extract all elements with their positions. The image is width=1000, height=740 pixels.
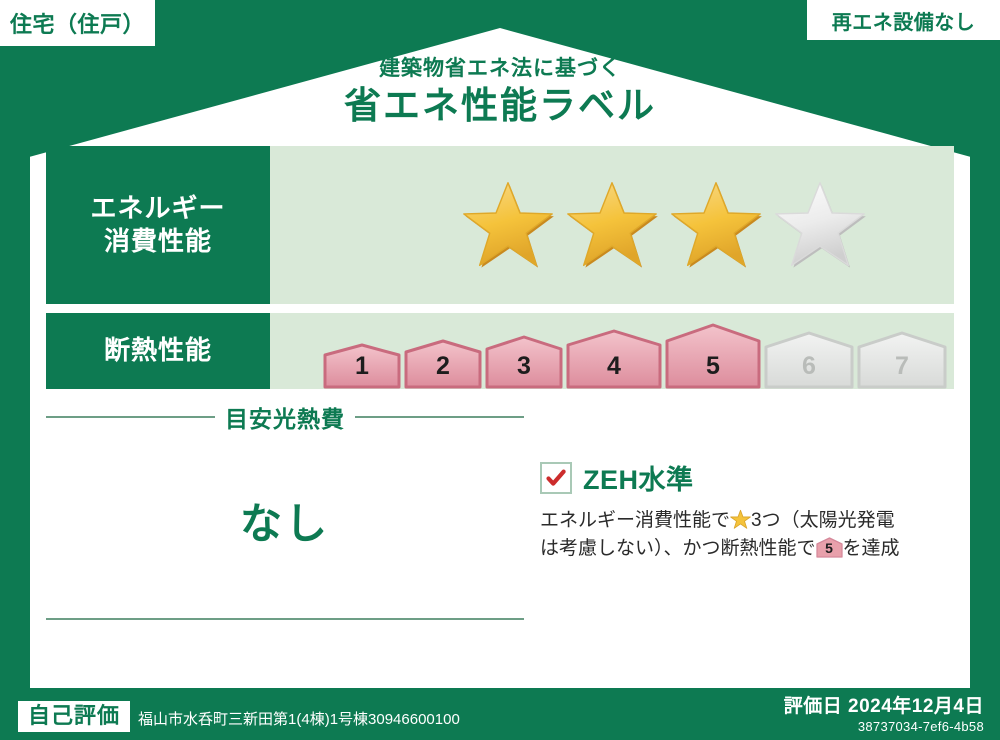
inline-house-badge-icon: 5 <box>816 537 843 558</box>
house-icon <box>764 331 854 389</box>
building-type-badge-label: 住宅（住戸） <box>10 7 145 39</box>
house-icon <box>485 335 563 389</box>
house-icon <box>665 323 761 389</box>
zeh-checkbox[interactable] <box>540 462 572 494</box>
estimated-utility-cost-heading: 目安光熱費 <box>46 400 524 434</box>
page-title: 建築物省エネ法に基づく 省エネ性能ラベル <box>0 56 1000 129</box>
energy-performance-label: エネルギー 消費性能 <box>46 146 270 304</box>
building-type-badge: 住宅（住戸） <box>0 0 155 46</box>
energy-performance-row: エネルギー 消費性能 <box>46 146 954 304</box>
estimated-utility-cost-value: なし <box>46 490 524 551</box>
estimated-utility-cost-heading-text: 目安光熱費 <box>225 400 345 434</box>
house-icon <box>566 329 662 389</box>
heading-rule-right <box>355 416 524 418</box>
insulation-grade-7: 7 <box>857 331 947 389</box>
lower-section: 目安光熱費 なし ZEH水準 エネルギー消費性能で 3つ（太陽光発電 <box>46 400 954 640</box>
insulation-performance-row: 断熱性能 1234567 <box>46 313 954 389</box>
footer: 自己評価 福山市水呑町三新田第1(4棟)1号棟30946600100 評価日 2… <box>0 688 1000 740</box>
footer-right: 評価日 2024年12月4日 38737034-7ef6-4b58 <box>784 691 984 734</box>
energy-performance-body <box>270 146 954 304</box>
performance-rows: エネルギー 消費性能 断熱性能 1234567 <box>46 146 954 398</box>
zeh-desc-part1: エネルギー消費性能で <box>540 510 730 531</box>
page-title-main: 省エネ性能ラベル <box>0 83 1000 129</box>
house-icon <box>404 339 482 389</box>
star-icon <box>460 177 556 273</box>
property-address: 福山市水呑町三新田第1(4棟)1号棟30946600100 <box>138 708 460 732</box>
estimated-utility-cost-section: 目安光熱費 なし <box>46 400 524 551</box>
zeh-description: エネルギー消費性能で 3つ（太陽光発電 は考慮しない）、かつ断熱性能で 5を達成 <box>540 507 954 563</box>
star-icon <box>772 177 868 273</box>
heading-rule-left <box>46 416 215 418</box>
cost-section-bottom-divider <box>46 618 524 620</box>
footer-left: 自己評価 福山市水呑町三新田第1(4棟)1号棟30946600100 <box>18 701 460 732</box>
house-icon <box>857 331 947 389</box>
zeh-heading: ZEH水準 <box>540 458 954 497</box>
insulation-performance-label-text: 断熱性能 <box>104 334 212 367</box>
renewable-energy-badge: 再エネ設備なし <box>807 0 1000 40</box>
evaluation-date: 評価日 2024年12月4日 <box>784 691 984 718</box>
energy-performance-label-line2: 消費性能 <box>104 226 212 256</box>
house-icon <box>323 343 401 389</box>
star-rating <box>460 177 868 273</box>
inline-house-badge-number: 5 <box>816 538 843 559</box>
self-evaluation-badge: 自己評価 <box>18 701 130 732</box>
zeh-section: ZEH水準 エネルギー消費性能で 3つ（太陽光発電 は考慮しない）、かつ断熱性能… <box>540 458 954 563</box>
insulation-performance-label: 断熱性能 <box>46 313 270 389</box>
insulation-grade-6: 6 <box>764 331 854 389</box>
zeh-desc-star-count: 3つ（太陽光発電 <box>751 510 895 531</box>
energy-performance-label: 住宅（住戸） 再エネ設備なし 建築物省エネ法に基づく 省エネ性能ラベル エネルギ… <box>0 0 1000 740</box>
zeh-desc-part3: を達成 <box>843 538 900 559</box>
insulation-grade-scale: 1234567 <box>323 313 947 389</box>
page-subtitle: 建築物省エネ法に基づく <box>0 56 1000 81</box>
insulation-grade-1: 1 <box>323 343 401 389</box>
insulation-grade-4: 4 <box>566 329 662 389</box>
evaluation-id: 38737034-7ef6-4b58 <box>784 719 984 734</box>
renewable-energy-badge-label: 再エネ設備なし <box>832 6 976 35</box>
insulation-grade-2: 2 <box>404 339 482 389</box>
zeh-title: ZEH水準 <box>583 458 694 497</box>
insulation-grade-5: 5 <box>665 323 761 389</box>
star-icon <box>668 177 764 273</box>
inline-star-icon <box>730 509 751 530</box>
star-icon <box>564 177 660 273</box>
check-icon <box>545 467 567 489</box>
zeh-desc-part2: は考慮しない）、かつ断熱性能で <box>540 538 816 559</box>
energy-performance-label-line1: エネルギー <box>90 193 225 223</box>
insulation-performance-body: 1234567 <box>270 313 954 389</box>
insulation-grade-3: 3 <box>485 335 563 389</box>
